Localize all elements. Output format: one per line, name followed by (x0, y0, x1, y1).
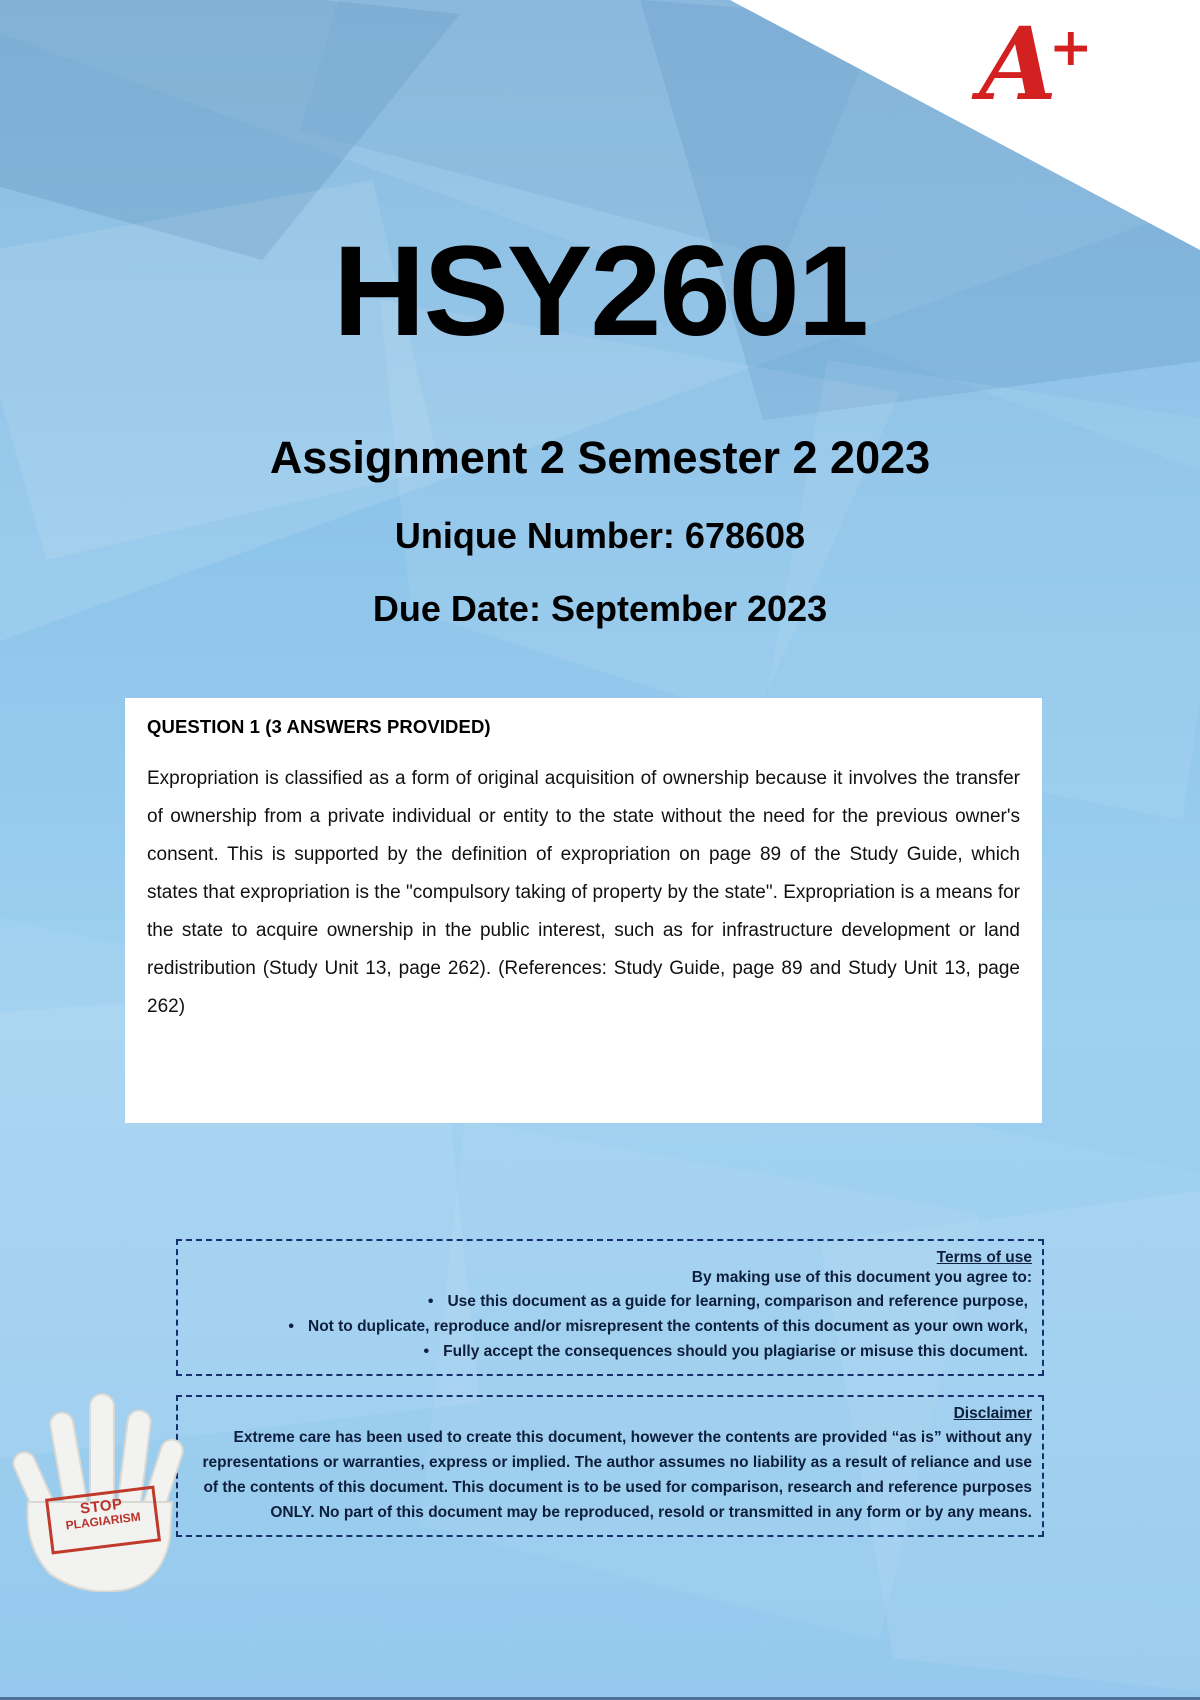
disclaimer-box: Disclaimer Extreme care has been used to… (176, 1395, 1044, 1537)
bullet-icon: • (428, 1289, 434, 1314)
terms-heading: Terms of use (188, 1249, 1032, 1267)
due-date-line: Due Date: September 2023 (0, 588, 1200, 630)
a-plus-letter: A (979, 5, 1055, 123)
answer-body-text: Expropriation is classified as a form of… (147, 760, 1020, 1026)
bullet-icon: • (424, 1339, 430, 1364)
list-item: •Use this document as a guide for learni… (188, 1289, 1032, 1314)
terms-item-text: Not to duplicate, reproduce and/or misre… (308, 1318, 1028, 1335)
terms-of-use-box: Terms of use By making use of this docum… (176, 1239, 1044, 1376)
answer-card: QUESTION 1 (3 ANSWERS PROVIDED) Expropri… (125, 698, 1042, 1123)
terms-item-text: Use this document as a guide for learnin… (447, 1293, 1028, 1310)
document-page: A+ HSY2601 Assignment 2 Semester 2 2023 … (0, 0, 1200, 1700)
a-plus-sign: + (1049, 17, 1091, 78)
page-title: HSY2601 (0, 218, 1200, 365)
question-heading: QUESTION 1 (3 ANSWERS PROVIDED) (147, 716, 1020, 738)
disclaimer-body: Extreme care has been used to create thi… (188, 1425, 1032, 1525)
unique-number-line: Unique Number: 678608 (0, 515, 1200, 557)
terms-list: •Use this document as a guide for learni… (188, 1289, 1032, 1364)
list-item: •Fully accept the consequences should yo… (188, 1339, 1032, 1364)
a-plus-grade-logo: A+ (950, 14, 1120, 134)
list-item: •Not to duplicate, reproduce and/or misr… (188, 1314, 1032, 1339)
disclaimer-heading: Disclaimer (188, 1405, 1032, 1423)
assignment-subtitle: Assignment 2 Semester 2 2023 (0, 432, 1200, 484)
terms-item-text: Fully accept the consequences should you… (443, 1343, 1028, 1360)
terms-intro: By making use of this document you agree… (188, 1269, 1032, 1287)
bullet-icon: • (288, 1314, 294, 1339)
